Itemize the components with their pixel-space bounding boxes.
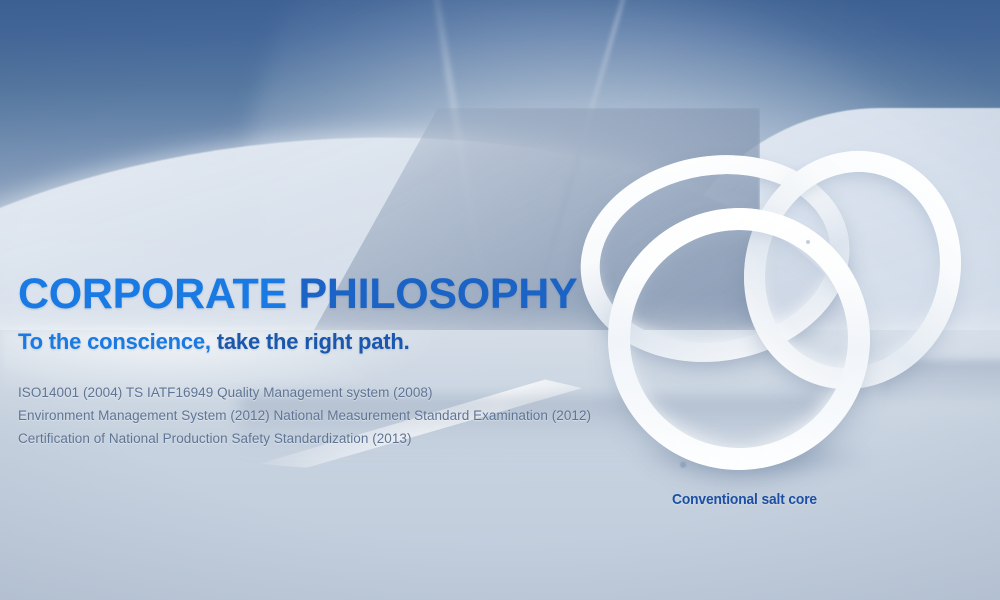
page-title-part-one: CORPORATE	[18, 270, 287, 318]
page-subtitle-part-one: To the conscience,	[18, 329, 211, 354]
certification-list: ISO14001 (2004) TS IATF16949 Quality Man…	[18, 381, 638, 451]
page-title-part-two: PHILOSOPHY	[299, 270, 578, 318]
certification-line: ISO14001 (2004) TS IATF16949 Quality Man…	[18, 381, 638, 404]
banner-text-block: CORPORATE PHILOSOPHY To the conscience, …	[18, 272, 638, 451]
page-subtitle: To the conscience, take the right path.	[18, 329, 638, 355]
corporate-philosophy-banner: CORPORATE PHILOSOPHY To the conscience, …	[0, 0, 1000, 600]
certification-line: Certification of National Production Saf…	[18, 427, 638, 450]
page-title: CORPORATE PHILOSOPHY	[18, 272, 638, 318]
page-subtitle-part-two: take the right path.	[217, 329, 410, 354]
product-caption: Conventional salt core	[672, 491, 817, 508]
ring-vent-hole-secondary-icon	[806, 240, 810, 244]
certification-line: Environment Management System (2012) Nat…	[18, 404, 638, 427]
